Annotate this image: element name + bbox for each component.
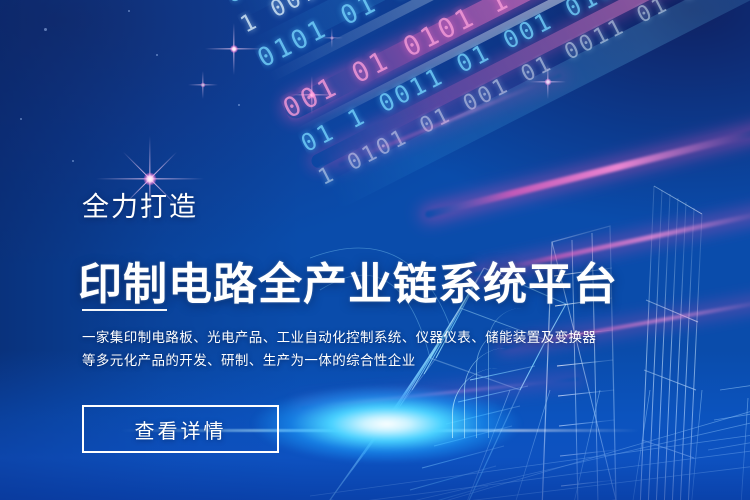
banner-description: 一家集印制电路板、光电产品、工业自动化控制系统、仪器仪表、储能装置及变换器 等多… — [82, 326, 552, 372]
title-divider — [82, 309, 167, 311]
banner-description-line-2: 等多元化产品的开发、研制、生产为一体的综合性企业 — [82, 349, 552, 372]
banner-content: 全力打造 印制电路全产业链系统平台 一家集印制电路板、光电产品、工业自动化控制系… — [0, 0, 750, 500]
banner-description-line-1: 一家集印制电路板、光电产品、工业自动化控制系统、仪器仪表、储能装置及变换器 — [82, 326, 552, 349]
hero-banner: 01 001 01 01 0011 01 001 0101 1 1 001 01… — [0, 0, 750, 500]
view-details-button[interactable]: 查看详情 — [82, 405, 279, 453]
view-details-button-label: 查看详情 — [135, 415, 227, 444]
page-title: 印制电路全产业链系统平台 — [78, 261, 618, 309]
banner-eyebrow: 全力打造 — [82, 194, 198, 221]
